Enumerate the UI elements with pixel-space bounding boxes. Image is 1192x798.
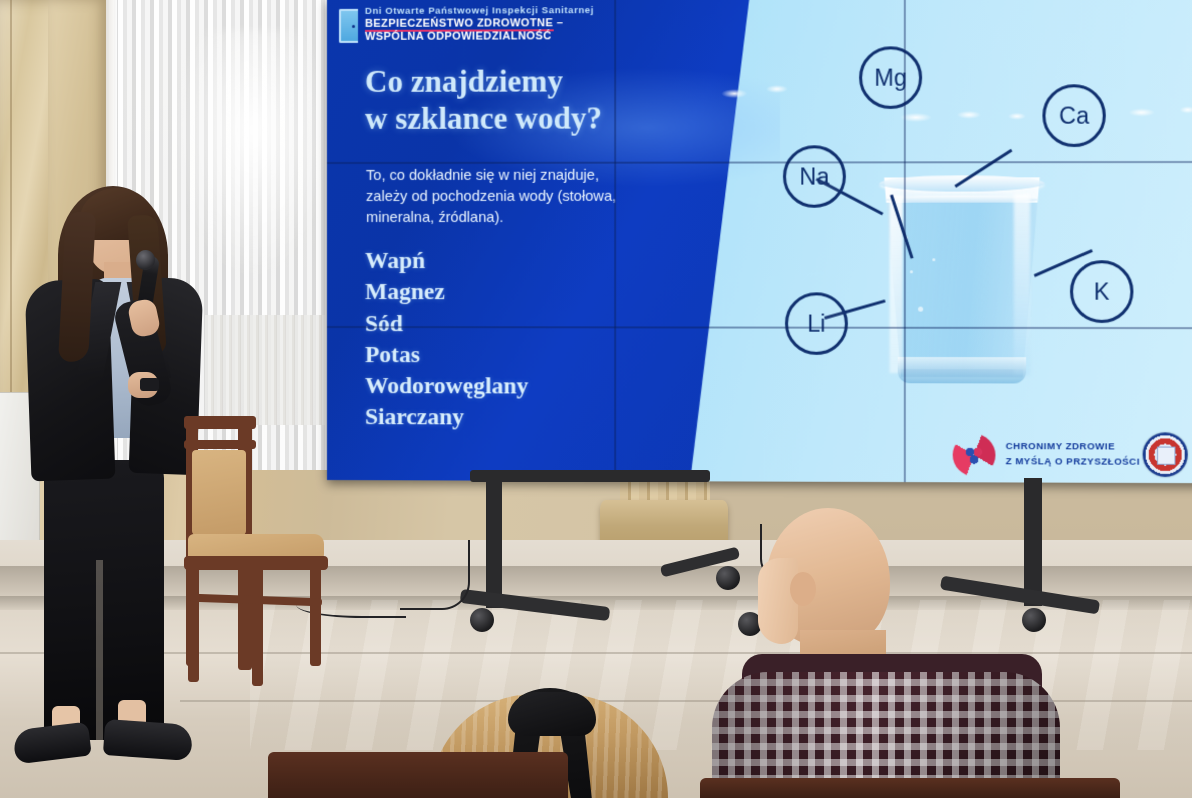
slide-body-line1: To, co dokładnie się w niej znajduje, (366, 166, 678, 188)
tv-stand-crossbar (470, 470, 710, 482)
window-light (175, 30, 330, 280)
presentation-photo-scene: Dni Otwarte Państwowej Inspekcji Sanitar… (0, 0, 1192, 798)
panel-seam-vertical (614, 0, 616, 481)
woman-hair-knot (508, 692, 596, 736)
element-symbol: Ca (1059, 102, 1089, 129)
screen-glare (1008, 113, 1026, 120)
tv-stand-post-left (486, 478, 502, 608)
list-item: Wapń (365, 246, 697, 277)
slide-header-line1: Dni Otwarte Państwowej Inspekcji Sanitar… (365, 5, 594, 17)
caster-wheel (1022, 608, 1046, 632)
list-item: Siarczany (365, 402, 697, 434)
element-symbol: Mg (874, 64, 906, 91)
chair-second-rail (184, 440, 256, 449)
radiator (205, 315, 325, 425)
list-item: Potas (365, 340, 697, 372)
slide-header-line3: WSPÓLNA ODPOWIEDZIALNOŚĆ (365, 30, 552, 43)
chronimy-zdrowie-logo-icon (953, 434, 996, 477)
element-circle-k: K (1070, 260, 1133, 323)
glass-of-water-image (859, 165, 1063, 398)
chair-leg-front-left (188, 566, 199, 682)
element-symbol: Li (807, 310, 825, 337)
element-circle-li: Li (785, 292, 848, 355)
bubble (910, 270, 913, 273)
screen-glare (957, 111, 981, 119)
slide-title-line1: Co znajdziemy (365, 63, 717, 101)
screen-glare (1128, 108, 1155, 116)
panel-seam-vertical (904, 0, 906, 482)
power-cable (400, 540, 470, 610)
chair-leg-front-right (252, 566, 263, 686)
chair-leg-back-right (310, 562, 321, 666)
slide-mineral-list: Wapń Magnez Sód Potas Wodorowęglany Siar… (365, 246, 697, 435)
caster-wheel (470, 608, 494, 632)
element-symbol: Na (800, 163, 830, 190)
glass-base (898, 357, 1026, 383)
bubble (932, 258, 935, 261)
chair-back-cushion (192, 450, 246, 535)
slide-body-line2: zależy od pochodzenia wody (stołowa, (366, 187, 678, 208)
element-circle-ca: Ca (1042, 84, 1105, 147)
slide-footer: CHRONIMY ZDROWIE Z MYŚLĄ O PRZYSZŁOŚCI (953, 432, 1192, 479)
inspekcja-sanitarna-logo-icon (1143, 432, 1188, 477)
slide-title-line2: w szklance wody? (365, 100, 717, 137)
screen-glare (766, 85, 788, 93)
slide-body-line3: mineralna, źródlana). (366, 208, 678, 229)
man-ear (790, 572, 816, 606)
screen-glare (721, 89, 747, 98)
element-circle-na: Na (783, 145, 846, 208)
screen-glare (1180, 106, 1192, 113)
list-item: Magnez (365, 277, 697, 309)
audience-chair-back-right (700, 778, 1120, 798)
bubble (918, 307, 923, 312)
chair-top-rail (184, 416, 256, 429)
footer-slogan-line2: Z MYŚLĄ O PRZYSZŁOŚCI (1006, 455, 1140, 470)
audience-chair-back-left (268, 752, 568, 798)
presenter-shoe-right (103, 719, 193, 761)
slide-header-line2: BEZPIECZEŃSTWO ZDROWOTNE – (365, 17, 563, 30)
man-face-profile (758, 558, 798, 644)
glass-highlight-right (1014, 194, 1030, 376)
video-wall-screen[interactable]: Dni Otwarte Państwowej Inspekcji Sanitar… (327, 0, 1192, 483)
presenter-trousers (44, 460, 164, 740)
caster-wheel (716, 566, 740, 590)
list-item: Wodorowęglany (365, 371, 697, 403)
element-circle-mg: Mg (859, 46, 922, 109)
open-door-icon (339, 9, 358, 43)
slide-body-text: To, co dokładnie się w niej znajduje, za… (366, 166, 678, 230)
slide-footer-slogan: CHRONIMY ZDROWIE Z MYŚLĄ O PRZYSZŁOŚCI (1006, 440, 1140, 470)
slide-title: Co znajdziemy w szklance wody? (365, 63, 717, 137)
list-item: Sód (365, 309, 697, 341)
element-symbol: K (1094, 278, 1110, 305)
slide-canvas: Dni Otwarte Państwowej Inspekcji Sanitar… (327, 0, 1192, 483)
presenter-leg-gap (96, 560, 103, 740)
tv-stand-post-right (1024, 478, 1042, 606)
presentation-clicker (140, 378, 159, 391)
slide-header: Dni Otwarte Państwowej Inspekcji Sanitar… (339, 5, 640, 52)
footer-slogan-line1: CHRONIMY ZDROWIE (1006, 440, 1140, 455)
